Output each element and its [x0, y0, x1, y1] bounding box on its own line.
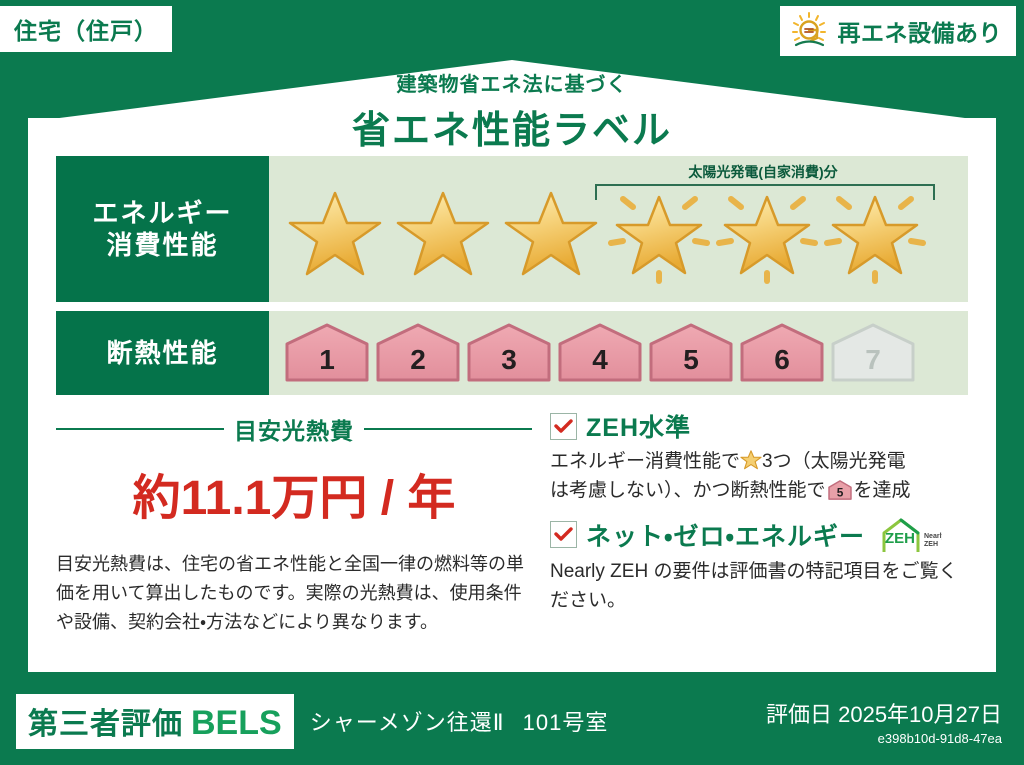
- zeh-standard-block: ZEH水準 エネルギー消費性能で3つ（太陽光発電は考慮しない）、かつ断熱性能で5…: [550, 408, 968, 506]
- energy-cost-amount: 約11.1万円 / 年: [56, 458, 532, 528]
- net-zero-energy-title: ネット・ゼロ・エネルギー: [586, 517, 865, 553]
- zeh-standard-heading: ZEH水準: [550, 408, 968, 444]
- property-name: シャーメゾン往還Ⅱ: [310, 705, 505, 737]
- star-icon: [499, 181, 603, 285]
- insulation-level-number: 3: [465, 344, 553, 376]
- insulation-level-badge: 5: [647, 322, 735, 384]
- energy-performance-label: エネルギー 消費性能: [56, 156, 269, 302]
- renewable-equipment-label: 再エネ設備あり: [838, 14, 1003, 48]
- zeh-standard-title: ZEH水準: [586, 408, 691, 444]
- star-icon-solar: [715, 181, 819, 285]
- lower-section: 目安光熱費 約11.1万円 / 年 目安光熱費は、住宅の省エネ性能と全国一律の燃…: [56, 408, 968, 608]
- star-rating: [269, 181, 927, 285]
- star-icon-inline: [740, 449, 762, 471]
- energy-performance-row: エネルギー 消費性能 太陽光発電(自家消費)分: [56, 156, 968, 302]
- footer-meta: 評価日 2025年10月27日 e398b10d-91d8-47ea: [766, 697, 1002, 746]
- insulation-level-badge: 4: [556, 322, 644, 384]
- insulation-badge-inline: 5: [826, 479, 854, 501]
- net-zero-energy-block: ネット・ゼロ・エネルギー ZEH Nearly ZEH Nearly ZEH の…: [550, 516, 968, 616]
- renewable-equipment-badge: 再エネ設備あり: [780, 6, 1017, 56]
- label-card: 建築物省エネ法に基づく 省エネ性能ラベル エネルギー 消費性能 太陽光発電(自家…: [28, 60, 996, 672]
- heading-rule-right: [364, 428, 532, 430]
- footer-bar: 第三者評価 BELS シャーメゾン往還Ⅱ 101号室 評価日 2025年10月2…: [0, 677, 1024, 765]
- insulation-level-number: 2: [374, 344, 462, 376]
- insulation-level-badge: 6: [738, 322, 826, 384]
- bels-logo-jp: 第三者評価: [28, 699, 183, 743]
- star-icon-solar: [607, 181, 711, 285]
- zeh-desc-part3: を達成: [854, 480, 911, 501]
- solar-sun-icon: [790, 11, 830, 51]
- zeh-section: ZEH水準 エネルギー消費性能で3つ（太陽光発電は考慮しない）、かつ断熱性能で5…: [542, 408, 968, 608]
- energy-label-line1: エネルギー: [92, 197, 232, 230]
- svg-text:5: 5: [836, 486, 843, 500]
- energy-cost-heading: 目安光熱費: [56, 412, 532, 446]
- zeh-desc-part2: は考慮しない）、かつ断熱性能で: [550, 480, 826, 501]
- evaluation-id: e398b10d-91d8-47ea: [766, 731, 1002, 746]
- insulation-performance-value: 1 2 3: [269, 311, 968, 395]
- zeh-desc-star-count: 3つ（太陽光発電: [762, 451, 906, 472]
- energy-cost-note: 目安光熱費は、住宅の省エネ性能と全国一律の燃料等の単価を用いて算出したものです。…: [56, 550, 532, 637]
- label-subtitle: 建築物省エネ法に基づく: [28, 68, 996, 97]
- building-type-badge: 住宅（住戸）: [0, 6, 172, 52]
- insulation-performance-label: 断熱性能: [56, 311, 269, 395]
- insulation-level-number: 5: [647, 344, 735, 376]
- star-icon: [391, 181, 495, 285]
- insulation-level-badge: 1: [283, 322, 371, 384]
- svg-text:ZEH: ZEH: [924, 541, 938, 548]
- page-title: 省エネ性能ラベル: [28, 99, 996, 154]
- svg-text:Nearly: Nearly: [924, 533, 942, 540]
- performance-section: エネルギー 消費性能 太陽光発電(自家消費)分: [56, 156, 968, 404]
- heading-rule-left: [56, 428, 224, 430]
- star-icon: [283, 181, 387, 285]
- bels-logo-en: BELS: [191, 704, 282, 743]
- building-type-label: 住宅（住戸）: [14, 12, 158, 46]
- energy-label-line2: 消費性能: [106, 229, 218, 262]
- net-zero-energy-heading: ネット・ゼロ・エネルギー ZEH Nearly ZEH: [550, 516, 968, 554]
- zeh-standard-description: エネルギー消費性能で3つ（太陽光発電は考慮しない）、かつ断熱性能で5を達成: [550, 447, 968, 506]
- insulation-level-badge-inactive: 7: [829, 322, 917, 384]
- evaluation-date: 評価日 2025年10月27日: [766, 697, 1002, 729]
- zeh-house-logo-icon: ZEH Nearly ZEH: [878, 516, 942, 554]
- zeh-desc-part1: エネルギー消費性能で: [550, 451, 740, 472]
- insulation-level-number: 6: [738, 344, 826, 376]
- bels-logo: 第三者評価 BELS: [16, 694, 294, 749]
- energy-cost-section: 目安光熱費 約11.1万円 / 年 目安光熱費は、住宅の省エネ性能と全国一律の燃…: [56, 408, 542, 608]
- insulation-level-number: 1: [283, 344, 371, 376]
- label-title-group: 建築物省エネ法に基づく 省エネ性能ラベル: [28, 68, 996, 154]
- net-zero-energy-checkbox[interactable]: [550, 521, 577, 548]
- insulation-level-number: 4: [556, 344, 644, 376]
- insulation-level-badge: 2: [374, 322, 462, 384]
- energy-performance-value: 太陽光発電(自家消費)分: [269, 156, 968, 302]
- energy-cost-heading-text: 目安光熱費: [234, 412, 354, 446]
- unit-number: 101号室: [523, 705, 609, 737]
- insulation-level-scale: 1 2 3: [269, 322, 917, 384]
- star-icon-solar: [823, 181, 927, 285]
- insulation-level-number: 7: [829, 344, 917, 376]
- insulation-label-text: 断熱性能: [106, 337, 218, 370]
- insulation-level-badge: 3: [465, 322, 553, 384]
- zeh-standard-checkbox[interactable]: [550, 413, 577, 440]
- svg-text:ZEH: ZEH: [885, 530, 915, 547]
- net-zero-energy-description: Nearly ZEH の要件は評価書の特記項目をご覧ください。: [550, 557, 968, 616]
- insulation-performance-row: 断熱性能 1: [56, 311, 968, 395]
- solar-generation-note: 太陽光発電(自家消費)分: [595, 162, 931, 182]
